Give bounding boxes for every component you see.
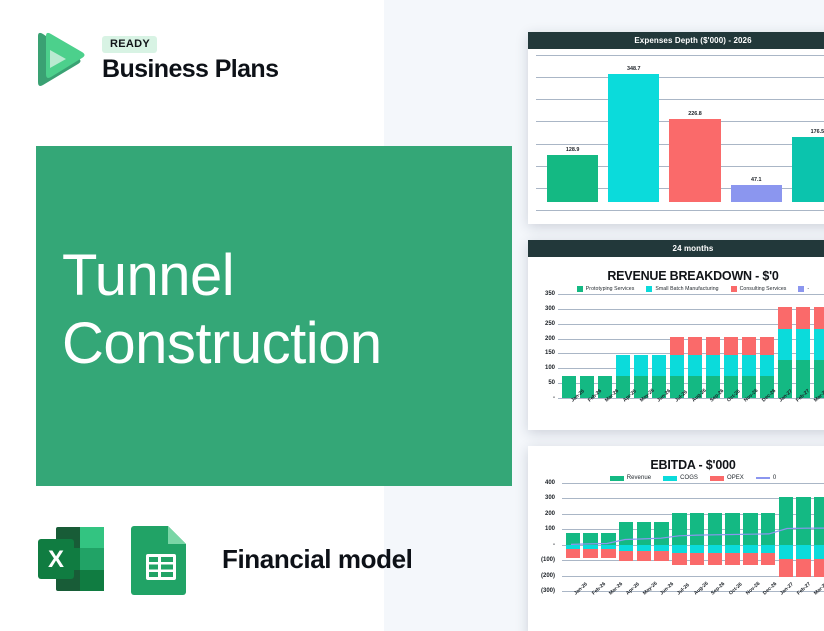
revenue-chart-header: 24 months: [528, 240, 824, 257]
legend-swatch: [798, 286, 804, 292]
legend-swatch: [610, 476, 624, 481]
y-axis-tick: 150: [545, 350, 555, 356]
y-axis-tick: -: [553, 395, 555, 401]
revenue-plot-area: 35030025020015010050-: [558, 294, 824, 398]
bar-column[interactable]: [596, 294, 614, 398]
revenue-chart-body: REVENUE BREAKDOWN - $'0 Prototyping Serv…: [528, 257, 824, 428]
ready-badge: READY: [102, 36, 157, 53]
legend-item[interactable]: Consulting Services: [731, 286, 787, 292]
legend-label: 0: [773, 475, 776, 481]
revenue-legend: Prototyping ServicesSmall Batch Manufact…: [536, 286, 824, 292]
legend-swatch: [731, 286, 737, 292]
y-axis-tick: -: [553, 542, 555, 548]
legend-item[interactable]: COGS: [663, 475, 698, 481]
bar-column[interactable]: [776, 294, 794, 398]
y-axis-tick: 200: [545, 511, 555, 517]
bar-column[interactable]: 176.5: [787, 55, 824, 202]
bar-value-label: 128.9: [566, 147, 580, 153]
y-axis-tick: 50: [548, 380, 555, 386]
bar-segment: [670, 355, 685, 376]
bar-segment: [796, 329, 811, 360]
ebitda-chart-title: EBITDA - $'000: [536, 458, 824, 472]
bar-segment: [670, 337, 685, 355]
brand-text: READY Business Plans: [102, 36, 278, 82]
bar-column[interactable]: [758, 294, 776, 398]
bar-segment: [724, 355, 739, 376]
bar-segment: [706, 337, 721, 355]
y-axis-tick: 350: [545, 291, 555, 297]
bar-column[interactable]: [704, 294, 722, 398]
legend-item[interactable]: -: [798, 286, 809, 292]
brand-name: Business Plans: [102, 56, 278, 82]
ebitda-plot-area: 400300200100-(100)(200)(300): [562, 483, 824, 591]
bar: [547, 155, 598, 202]
y-axis-tick: 400: [545, 480, 555, 486]
revenue-bars: [560, 294, 824, 398]
bar-column[interactable]: [614, 294, 632, 398]
ebitda-chart-body: EBITDA - $'000 RevenueCOGSOPEX0 40030020…: [528, 446, 824, 621]
google-sheets-icon: [124, 521, 198, 597]
ebitda-x-labels: Jan-26Feb-26Mar-26Apr-26May-26Jun-26Jul-…: [564, 591, 824, 617]
bar: [731, 185, 782, 202]
bar-column[interactable]: [578, 294, 596, 398]
bar-segment: [796, 307, 811, 329]
bar-value-label: 348.7: [627, 66, 641, 72]
legend-item[interactable]: Prototyping Services: [577, 286, 635, 292]
bar-segment: [814, 307, 824, 329]
bar-segment: [706, 355, 721, 376]
bar: [608, 74, 659, 202]
expenses-plot-area: 128.9348.7226.847.1176.5: [536, 55, 824, 210]
legend-item[interactable]: OPEX: [710, 475, 744, 481]
bar: [669, 119, 720, 202]
ebitda-legend: RevenueCOGSOPEX0: [536, 475, 824, 481]
revenue-y-axis: 35030025020015010050-: [536, 294, 558, 398]
bar-value-label: 226.8: [688, 111, 702, 117]
y-axis-tick: 100: [545, 526, 555, 532]
bar-value-label: 176.5: [811, 129, 824, 135]
y-axis-tick: 300: [545, 495, 555, 501]
bar-column[interactable]: 47.1: [726, 55, 787, 202]
bar: [792, 137, 824, 202]
expenses-bars: 128.9348.7226.847.1176.5: [542, 55, 824, 202]
legend-label: -: [807, 286, 809, 292]
legend-item[interactable]: Revenue: [610, 475, 651, 481]
brand-logo-block: READY Business Plans: [28, 28, 278, 90]
bar-segment: [778, 329, 793, 360]
bar-segment: [760, 337, 775, 355]
zero-line-path: [571, 528, 824, 545]
bar-segment: [814, 329, 824, 360]
gridline: [536, 210, 824, 211]
bar-value-label: 47.1: [751, 177, 762, 183]
y-axis-tick: 250: [545, 321, 555, 327]
hero-green-block: Tunnel Construction: [36, 146, 512, 486]
ebitda-zero-line-series: [562, 483, 824, 591]
legend-item[interactable]: Small Batch Manufacturing: [646, 286, 718, 292]
legend-swatch: [646, 286, 652, 292]
bar-column[interactable]: 348.7: [603, 55, 664, 202]
bar-segment: [652, 355, 667, 376]
expenses-chart-header: Expenses Depth ($'000) - 2026: [528, 32, 824, 49]
bar-segment: [616, 355, 631, 376]
y-axis-tick: 100: [545, 365, 555, 371]
revenue-x-labels: Jan-26Feb-26Mar-26Apr-26May-26Jun-26Jul-…: [560, 398, 824, 424]
bar-segment: [742, 337, 757, 355]
legend-swatch: [756, 477, 770, 479]
revenue-chart-title: REVENUE BREAKDOWN - $'0: [536, 269, 824, 283]
legend-item[interactable]: 0: [756, 475, 776, 481]
chart-card-revenue[interactable]: 24 months REVENUE BREAKDOWN - $'0 Protot…: [528, 240, 824, 430]
legend-swatch: [710, 476, 724, 481]
legend-label: Small Batch Manufacturing: [655, 286, 718, 292]
footer-label: Financial model: [222, 544, 413, 575]
bar-segment: [634, 355, 649, 376]
svg-text:X: X: [48, 546, 64, 573]
y-axis-tick: (300): [541, 588, 555, 594]
ebitda-y-axis: 400300200100-(100)(200)(300): [536, 483, 558, 591]
bar-segment: [742, 355, 757, 376]
bar-segment: [760, 355, 775, 376]
page-title: Tunnel Construction: [62, 242, 382, 379]
microsoft-excel-icon: X: [34, 521, 108, 597]
bar-column[interactable]: [812, 294, 824, 398]
bar-column[interactable]: [560, 294, 578, 398]
bar-column[interactable]: [650, 294, 668, 398]
legend-swatch: [663, 476, 677, 481]
chart-card-expenses[interactable]: Expenses Depth ($'000) - 2026 128.9348.7…: [528, 32, 824, 224]
bar-column[interactable]: [632, 294, 650, 398]
bar-segment: [688, 355, 703, 376]
legend-label: COGS: [680, 475, 698, 481]
y-axis-tick: (200): [541, 573, 555, 579]
bar-column[interactable]: [668, 294, 686, 398]
bar-segment: [724, 337, 739, 355]
legend-label: Revenue: [627, 475, 651, 481]
bar-segment: [778, 307, 793, 329]
bar-column[interactable]: [740, 294, 758, 398]
y-axis-tick: (100): [541, 557, 555, 563]
bar-column[interactable]: [722, 294, 740, 398]
slide-canvas: READY Business Plans Tunnel Construction…: [0, 0, 824, 631]
play-triangle-logo-icon: [28, 28, 88, 90]
bar-column[interactable]: [686, 294, 704, 398]
y-axis-tick: 200: [545, 336, 555, 342]
footer-block: X Financial model: [34, 521, 413, 597]
legend-swatch: [577, 286, 583, 292]
bar-column[interactable]: 226.8: [664, 55, 725, 202]
legend-label: Consulting Services: [740, 286, 787, 292]
bar-column[interactable]: 128.9: [542, 55, 603, 202]
y-axis-tick: 300: [545, 306, 555, 312]
bar-column[interactable]: [794, 294, 812, 398]
legend-label: Prototyping Services: [586, 286, 635, 292]
bar-segment: [688, 337, 703, 355]
expenses-chart-body: 128.9348.7226.847.1176.5: [528, 49, 824, 214]
legend-label: OPEX: [727, 475, 744, 481]
chart-card-ebitda[interactable]: EBITDA - $'000 RevenueCOGSOPEX0 40030020…: [528, 446, 824, 631]
